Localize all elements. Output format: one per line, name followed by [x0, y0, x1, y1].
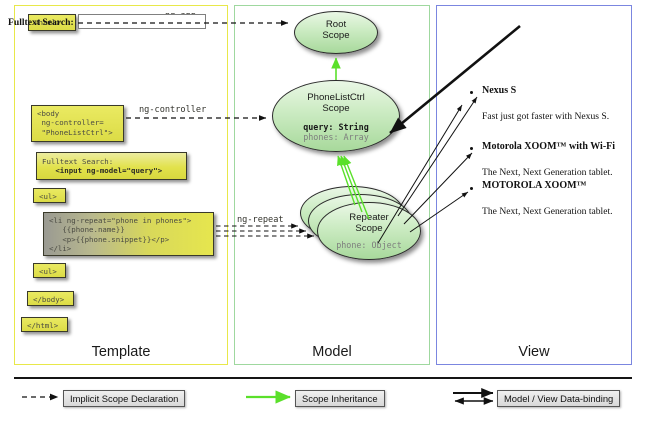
code-ul-open: <ul> — [33, 188, 66, 203]
view-item-bullet — [470, 91, 473, 94]
scope-root-title-line1: Root — [326, 19, 346, 30]
scope-phonelistctrl-props: query: String phones: Array — [273, 122, 399, 142]
view-item-snippet-2: The Next, Next Generation tablet. — [482, 206, 613, 217]
code-html-close: </html> — [21, 317, 68, 332]
view-search-label: Fulltext Search: — [8, 17, 74, 28]
scope-repeater-props: phone: Object — [318, 240, 420, 250]
scope-repeater-title-line1: Repeater — [349, 212, 388, 223]
scope-root: Root Scope — [294, 11, 378, 54]
scope-phonelistctrl-title-line2: Scope — [322, 103, 349, 114]
edge-label-ng-repeat: ng-repeat — [237, 215, 284, 225]
code-fulltext-search-input: <input ng-model="query"> — [42, 166, 162, 175]
scope-repeater-title-line2: Scope — [355, 223, 382, 234]
scope-phonelistctrl-title-line1: PhoneListCtrl — [307, 92, 365, 103]
panel-view-label: View — [437, 344, 631, 360]
view-item-snippet-0: Fast just got faster with Nexus S. — [482, 111, 609, 122]
panel-template-label: Template — [15, 344, 227, 360]
legend-label-model-view-data-binding: Model / View Data-binding — [497, 390, 620, 407]
scope-root-title: Root Scope — [295, 19, 377, 42]
panel-model: Model — [234, 5, 430, 365]
scope-prop-phone: phone: Object — [336, 240, 402, 250]
view-search-input[interactable] — [78, 14, 206, 29]
legend-divider — [14, 377, 632, 379]
view-item-bullet — [470, 147, 473, 150]
legend-label-implicit-scope-declaration: Implicit Scope Declaration — [63, 390, 185, 407]
view-item-name-1: Motorola XOOM™ with Wi-Fi — [482, 141, 615, 152]
scope-phonelistctrl: PhoneListCtrl Scope query: String phones… — [272, 80, 400, 152]
panel-model-label: Model — [235, 344, 429, 360]
code-body-open: <body ng-controller= "PhoneListCtrl"> — [31, 105, 124, 142]
scope-prop-phones: phones: Array — [303, 132, 369, 142]
scope-repeater-title: Repeater Scope — [318, 212, 420, 235]
angularjs-concepts-diagram: Template Model View <html> <body ng-cont… — [0, 0, 645, 425]
code-body-close: </body> — [27, 291, 74, 306]
code-fulltext-search-label: Fulltext Search: — [42, 157, 113, 166]
code-ul-close: <ul> — [33, 263, 66, 278]
panel-template: Template — [14, 5, 228, 365]
code-li-ng-repeat: <li ng-repeat="phone in phones"> {{phone… — [43, 212, 214, 256]
scope-repeater: Repeater Scope phone: Object — [317, 202, 421, 260]
scope-root-title-line2: Scope — [322, 30, 349, 41]
edge-label-ng-controller: ng-controller — [139, 105, 206, 115]
code-fulltext-search: Fulltext Search: <input ng-model="query"… — [36, 152, 187, 180]
scope-prop-query: query: String — [303, 122, 369, 132]
legend-label-scope-inheritance: Scope Inheritance — [295, 390, 385, 407]
scope-phonelistctrl-title: PhoneListCtrl Scope — [273, 92, 399, 115]
view-item-name-0: Nexus S — [482, 85, 516, 96]
view-item-bullet — [470, 187, 473, 190]
legend-arrow-model-view-data-binding — [453, 393, 493, 401]
view-item-snippet-1: The Next, Next Generation tablet. — [482, 167, 613, 178]
view-item-name-2: MOTOROLA XOOM™ — [482, 180, 587, 191]
